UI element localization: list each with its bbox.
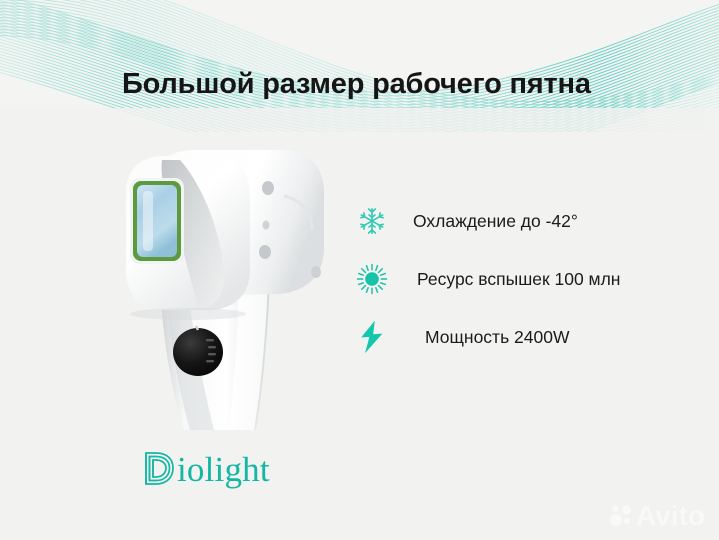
- avito-watermark: Avito: [609, 502, 705, 530]
- sun-icon: [352, 259, 392, 299]
- lightning-bolt-icon: [352, 317, 392, 357]
- avito-dots-icon: [609, 503, 635, 529]
- feature-label-cooling: Охлаждение до -42°: [413, 211, 578, 232]
- brand-logo-diolight: iolight: [142, 448, 270, 490]
- snowflake-icon: [352, 201, 392, 241]
- page-title: Большой размер рабочего пятна: [122, 68, 662, 101]
- feature-item-cooling: Охлаждение до -42°: [352, 192, 692, 250]
- layered-d-monogram-icon: [142, 449, 176, 489]
- product-image-diode-laser-handpiece: [88, 130, 328, 440]
- brand-wordmark: iolight: [177, 452, 270, 487]
- feature-label-power: Мощность 2400W: [425, 327, 570, 348]
- avito-wordmark: Avito: [636, 502, 705, 530]
- feature-item-flash-lifetime: Ресурс вспышек 100 млн: [352, 250, 692, 308]
- feature-label-flash-lifetime: Ресурс вспышек 100 млн: [417, 269, 620, 290]
- promo-slide: Большой размер рабочего пятна: [0, 0, 719, 540]
- feature-list: Охлаждение до -42°: [352, 192, 692, 366]
- feature-item-power: Мощность 2400W: [352, 308, 692, 366]
